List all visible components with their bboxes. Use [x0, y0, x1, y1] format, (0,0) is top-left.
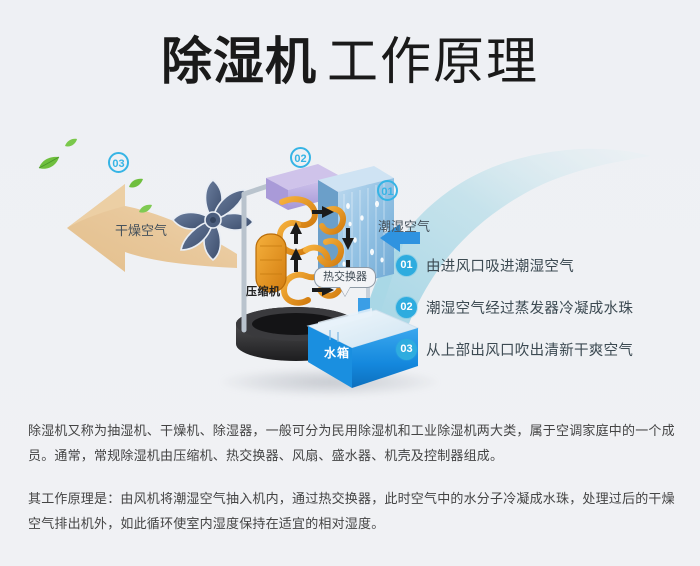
callout-tail [340, 287, 350, 296]
label-water-tank: 水箱 [324, 344, 350, 361]
body-copy: 除湿机又称为抽湿机、干燥机、除湿器，一般可分为民用除湿机和工业除湿机两大类，属于… [28, 418, 676, 536]
badge-03-illustration: 03 [108, 152, 129, 173]
legend-item-01: 01 由进风口吸进潮湿空气 [396, 255, 686, 276]
legend-text-03: 从上部出风口吹出清新干爽空气 [426, 339, 633, 360]
legend-list: 01 由进风口吸进潮湿空气 02 潮湿空气经过蒸发器冷凝成水珠 03 从上部出风… [396, 255, 686, 381]
legend-badge-03: 03 [396, 339, 417, 360]
legend-text-02: 潮湿空气经过蒸发器冷凝成水珠 [426, 297, 633, 318]
page-title: 除湿机工作原理 [0, 36, 700, 87]
title-bold-text: 除湿机 [161, 33, 317, 90]
leaf-icon [138, 204, 153, 215]
title-light-text: 工作原理 [327, 33, 539, 90]
badge-01-illustration: 01 [377, 180, 398, 201]
callout-heat-exchanger: 热交换器 [314, 267, 376, 288]
leaf-icon [64, 138, 78, 149]
infographic-page: 除湿机工作原理 [0, 0, 700, 566]
leaf-icon [38, 156, 60, 172]
legend-item-03: 03 从上部出风口吹出清新干爽空气 [396, 339, 686, 360]
legend-item-02: 02 潮湿空气经过蒸发器冷凝成水珠 [396, 297, 686, 318]
legend-badge-02: 02 [396, 297, 417, 318]
paragraph-principle: 其工作原理是：由风机将潮湿空气抽入机内，通过热交换器，此时空气中的水分子冷凝成水… [28, 486, 676, 536]
paragraph-definition: 除湿机又称为抽湿机、干燥机、除湿器，一般可分为民用除湿机和工业除湿机两大类，属于… [28, 418, 676, 468]
label-humid-air: 潮湿空气 [378, 216, 430, 235]
badge-02-illustration: 02 [290, 147, 311, 168]
legend-badge-01: 01 [396, 255, 417, 276]
label-compressor: 压缩机 [246, 283, 281, 299]
legend-text-01: 由进风口吸进潮湿空气 [426, 255, 574, 276]
leaf-icon [128, 178, 144, 190]
label-dry-air: 干燥空气 [115, 220, 167, 239]
